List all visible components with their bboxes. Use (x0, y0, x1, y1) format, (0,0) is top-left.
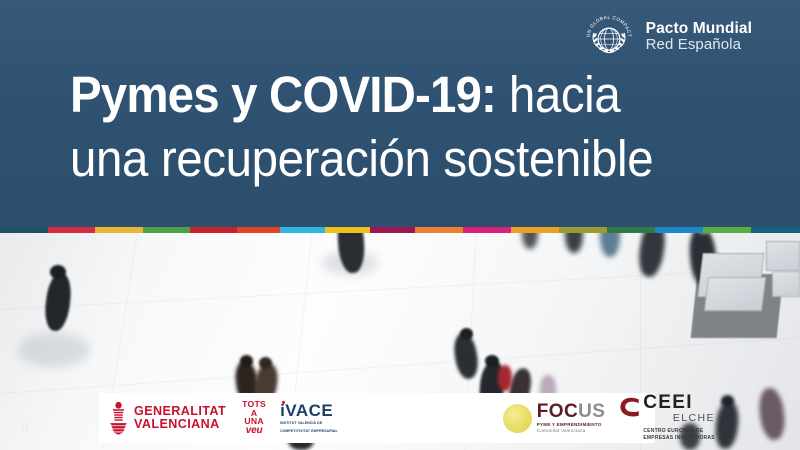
sdg-segment-olive (559, 227, 607, 233)
sdg-segment-azure (655, 227, 703, 233)
sdg-segment-gold (325, 227, 370, 233)
tots-line-2: A UNA (242, 409, 266, 426)
brand-line-red-espanola: Red Española (646, 37, 752, 53)
sdg-segment-orange (415, 227, 463, 233)
focus-word-grey: US (578, 401, 605, 422)
generalitat-valenciana-text: GENERALITAT VALENCIANA (134, 405, 226, 431)
title-bold-part: Pymes y COVID-19: (70, 66, 496, 123)
ceei-wordmark: CEEI (643, 393, 715, 412)
sdg-segment-forest-green (607, 227, 655, 233)
logo-focus-pyme: FOCUS PYME Y EMPRENDIMIENTO Comunitat Va… (503, 402, 606, 433)
logo-ceei-elche: CEEI ELCHE CENTRO EUROPEO DE EMPRESAS IN… (619, 393, 715, 443)
logo-ivace: iVACE INSTITUT VALENCIÀ DE COMPETITIVITA… (280, 402, 338, 434)
ceei-text: CEEI ELCHE CENTRO EUROPEO DE EMPRESAS IN… (643, 393, 715, 443)
title-line-1: Pymes y COVID-19: hacia (70, 63, 712, 127)
focus-sub-line-2: Comunitat Valenciana (537, 429, 606, 434)
focus-text: FOCUS PYME Y EMPRENDIMIENTO Comunitat Va… (537, 402, 606, 433)
brand-line-pacto-mundial: Pacto Mundial (646, 21, 752, 38)
header-band: UN GLOBAL COMPACT (0, 0, 800, 227)
title-light-part: hacia (496, 66, 620, 123)
focus-wordmark: FOCUS (537, 402, 606, 421)
sdg-segment-magenta (463, 227, 511, 233)
sdg-segment-cyan (280, 227, 325, 233)
focus-circle-icon (503, 404, 532, 433)
page-number: 1 (21, 419, 28, 433)
focus-word-dark: FOC (537, 401, 578, 422)
generalitat-valenciana-crest-icon (109, 401, 128, 435)
sdg-segment-green (143, 227, 190, 233)
sdg-segment-navy (751, 227, 800, 233)
un-global-compact-emblem: UN GLOBAL COMPACT (583, 12, 635, 64)
ivace-wordmark: iVACE (280, 402, 338, 419)
sdg-segment-dark-red (190, 227, 237, 233)
sdg-segment-amber (511, 227, 559, 233)
title-line-2: una recuperación sostenible (70, 127, 712, 191)
ceei-sub-elche: ELCHE (643, 413, 715, 424)
sdg-segment-yellow (95, 227, 143, 233)
slide-root: UN GLOBAL COMPACT (0, 0, 800, 450)
sdg-segment-crimson (48, 227, 95, 233)
sponsor-logo-bar: GENERALITAT VALENCIANA TOTS A UNA veu iV… (99, 393, 655, 443)
page-title: Pymes y COVID-19: hacia una recuperación… (70, 63, 760, 191)
ivace-sub-line-2: COMPETITIVITAT EMPRESARIAL (280, 429, 338, 434)
tots-line-3: veu (242, 426, 266, 436)
ivace-sub-line-1: INSTITUT VALENCIÀ DE (280, 421, 338, 426)
brand-text: Pacto Mundial Red Española (646, 21, 752, 56)
sdg-segment-dark-blue (0, 227, 48, 233)
logo-tots-a-una-veu: TOTS A UNA veu (242, 400, 266, 436)
gva-line-2: VALENCIANA (134, 418, 226, 431)
ceei-foot-line-2: EMPRESAS INNOVADORAS (643, 435, 715, 443)
sdg-segment-burgundy (370, 227, 415, 233)
sdg-segment-orange-red (237, 227, 280, 233)
ceei-foot-line-1: CENTRO EUROPEO DE (643, 428, 715, 436)
logo-generalitat-valenciana: GENERALITAT VALENCIANA (109, 401, 226, 435)
sdg-color-strip (0, 227, 800, 233)
svg-text:UN GLOBAL COMPACT: UN GLOBAL COMPACT (585, 15, 632, 38)
ivace-letters-rest: VACE (285, 401, 333, 420)
sdg-segment-leaf-green (703, 227, 751, 233)
ceei-swoosh-icon (619, 396, 641, 422)
un-global-compact-brand: UN GLOBAL COMPACT (583, 12, 752, 64)
